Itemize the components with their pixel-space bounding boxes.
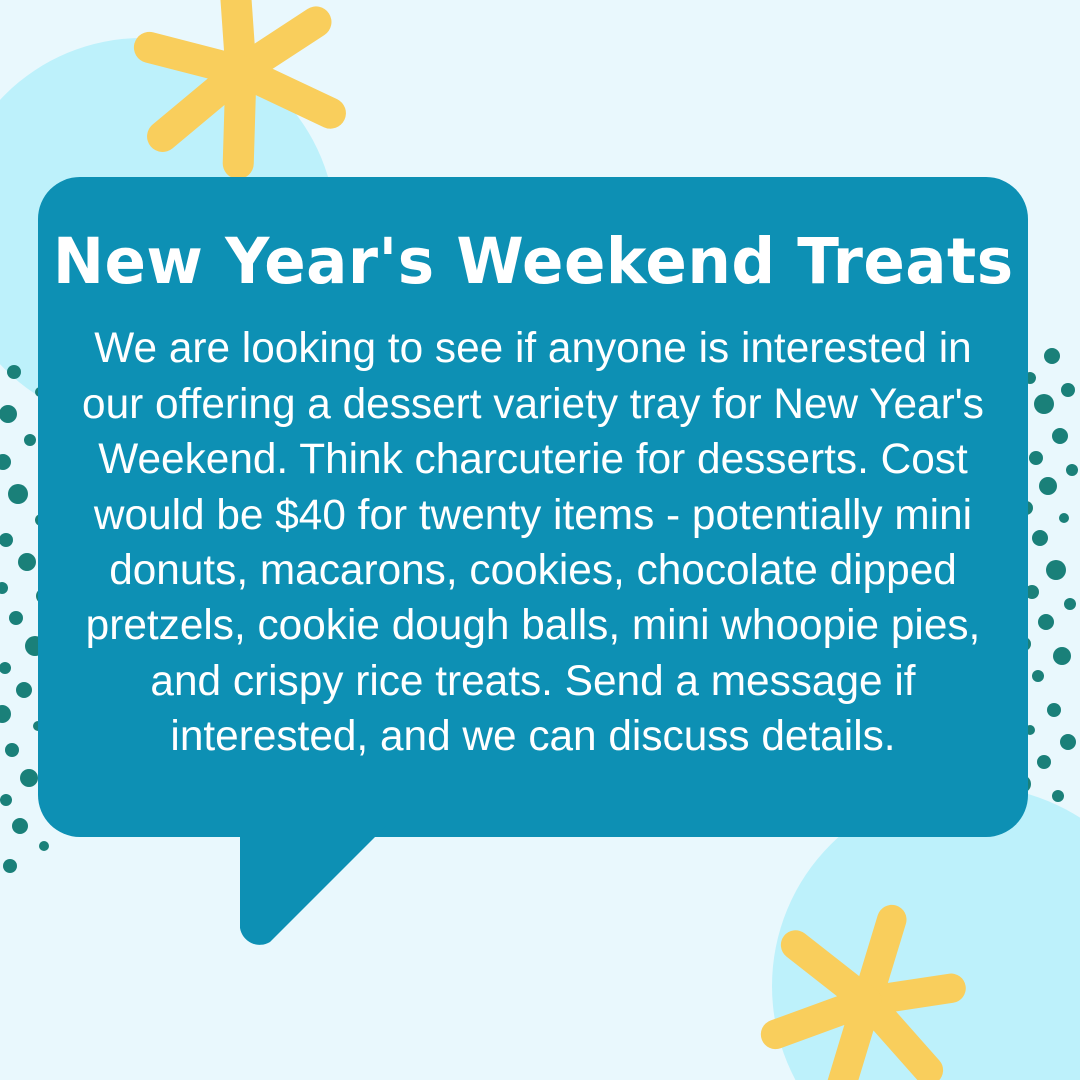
speech-bubble: New Year's Weekend Treats We are looking… [0,0,1080,1080]
page-title: New Year's Weekend Treats [53,229,1014,295]
offer-description: We are looking to see if anyone is inter… [73,321,993,765]
speech-bubble-tail [240,826,386,948]
speech-bubble-content: New Year's Weekend Treats We are looking… [38,177,1028,837]
poster-canvas: New Year's Weekend Treats We are looking… [0,0,1080,1080]
